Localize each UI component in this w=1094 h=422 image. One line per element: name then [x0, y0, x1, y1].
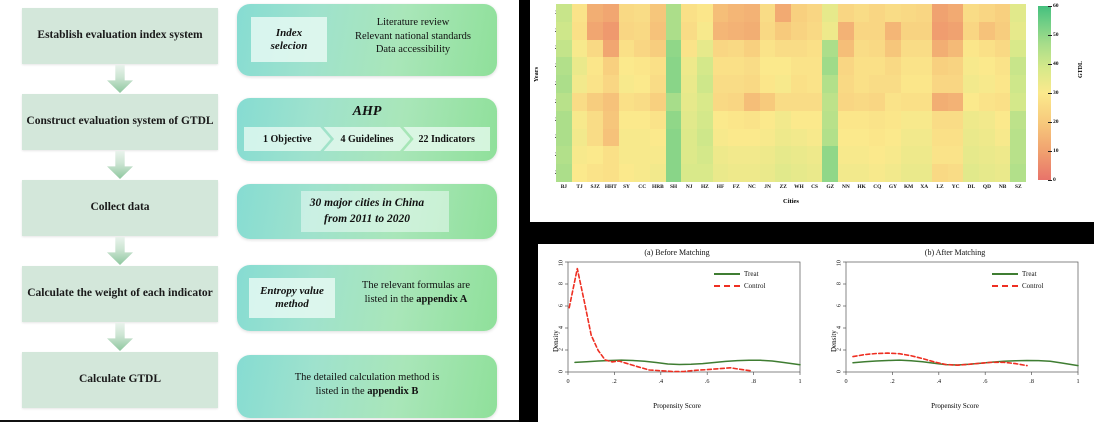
- heatmap-cell: [713, 93, 729, 111]
- heatmap-cell: [587, 57, 603, 75]
- heatmap-cell: [791, 22, 807, 40]
- heatmap-cell: [948, 129, 964, 147]
- legend-item-control: Control: [714, 282, 765, 290]
- heatmap-cell: [901, 146, 917, 164]
- heatmap-cell: [556, 57, 572, 75]
- heatmap-cell: [948, 146, 964, 164]
- heatmap-x-tick: NJ: [681, 184, 697, 196]
- heatmap-cell: [963, 40, 979, 58]
- heatmap-cell: [619, 164, 635, 182]
- heatmap-cell: [901, 40, 917, 58]
- detail-card-5-line1: The detailed calculation method is: [249, 371, 485, 385]
- heatmap-cell: [572, 146, 588, 164]
- ahp-chevron-1: 1 Objective: [244, 127, 331, 151]
- detail-card-3-body: 30 major cities in China from 2011 to 20…: [237, 196, 497, 227]
- heatmap-cell: [650, 146, 666, 164]
- heatmap-cell: [697, 164, 713, 182]
- heatmap-cell: [681, 75, 697, 93]
- legend-label: Treat: [1022, 270, 1037, 278]
- heatmap-cell: [666, 22, 682, 40]
- detail-card-cities: 30 major cities in China from 2011 to 20…: [237, 184, 497, 239]
- heatmap-cell: [713, 111, 729, 129]
- heatmap-cell: [885, 57, 901, 75]
- heatmap-cell: [869, 164, 885, 182]
- heatmap-cell: [979, 146, 995, 164]
- detail-card-index-selection: Index selecion Literature review Relevan…: [237, 4, 497, 76]
- heatmap-x-tick: SH: [666, 184, 682, 196]
- heatmap-cell: [869, 129, 885, 147]
- heatmap-cell: [854, 40, 870, 58]
- heatmap-cell: [650, 40, 666, 58]
- heatmap-cell: [822, 111, 838, 129]
- heatmap-cell: [979, 164, 995, 182]
- heatmap-cell: [760, 93, 776, 111]
- heatmap-cell: [901, 164, 917, 182]
- heatmap-x-tick: XA: [916, 184, 932, 196]
- heatmap-cell: [619, 75, 635, 93]
- heatmap-cell: [885, 129, 901, 147]
- density-x-tick: 1: [1076, 378, 1079, 385]
- heatmap-cell: [760, 164, 776, 182]
- heatmap-cell: [1010, 164, 1026, 182]
- detail-card-5-appendix: appendix B: [367, 386, 418, 397]
- heatmap-cell: [697, 93, 713, 111]
- density-y-tick: 0: [835, 370, 842, 373]
- heatmap-cell: [854, 4, 870, 22]
- heatmap-x-tick: WH: [791, 184, 807, 196]
- heatmap-cell: [822, 75, 838, 93]
- flow-step-1: Establish evaluation index system: [22, 8, 218, 64]
- heatmap-cell: [901, 129, 917, 147]
- heatmap-cell: [697, 129, 713, 147]
- density-x-tick: .4: [936, 378, 941, 385]
- detail-card-4-tag: Entropy value method: [249, 278, 335, 318]
- heatmap-cell: [916, 146, 932, 164]
- heatmap-cell: [885, 22, 901, 40]
- heatmap-cell: [572, 57, 588, 75]
- heatmap-cell: [995, 111, 1011, 129]
- heatmap-cell: [869, 4, 885, 22]
- density-x-tick: .4: [658, 378, 663, 385]
- heatmap-cell: [728, 129, 744, 147]
- heatmap-cell: [838, 146, 854, 164]
- heatmap-cell: [666, 4, 682, 22]
- heatmap-cell: [572, 111, 588, 129]
- heatmap-cell: [932, 4, 948, 22]
- heatmap-cell: [791, 75, 807, 93]
- heatmap-cell: [916, 93, 932, 111]
- heatmap-cell: [869, 22, 885, 40]
- heatmap-cell: [791, 111, 807, 129]
- heatmap-cell: [556, 146, 572, 164]
- flow-step-5: Calculate GTDL: [22, 352, 218, 408]
- flow-step-3: Collect data: [22, 180, 218, 236]
- heatmap-cell: [728, 40, 744, 58]
- heatmap-cell: [885, 111, 901, 129]
- heatmap-cell: [587, 40, 603, 58]
- heatmap-cell: [572, 40, 588, 58]
- heatmap-cell: [634, 22, 650, 40]
- heatmap-cell: [791, 57, 807, 75]
- density-y-tick: 2: [835, 348, 842, 351]
- heatmap-cell: [634, 93, 650, 111]
- heatmap-cell: [556, 22, 572, 40]
- heatmap-cell: [556, 164, 572, 182]
- heatmap-cell: [822, 93, 838, 111]
- heatmap-cell: [932, 22, 948, 40]
- heatmap-cell: [744, 93, 760, 111]
- detail-card-ahp: AHP 1 Objective 4 Guidelines 22 Indicato…: [237, 98, 497, 161]
- heatmap-cell: [995, 146, 1011, 164]
- heatmap-cell: [572, 75, 588, 93]
- detail-card-5-body: The detailed calculation method is liste…: [249, 371, 485, 398]
- heatmap-cell: [587, 22, 603, 40]
- heatmap-cell: [901, 75, 917, 93]
- plot-frame: [846, 262, 1078, 372]
- heatmap-cell: [916, 4, 932, 22]
- heatmap-cell: [760, 22, 776, 40]
- heatmap-cell: [650, 22, 666, 40]
- heatmap-cell: [634, 146, 650, 164]
- heatmap-x-tick: NN: [838, 184, 854, 196]
- heatmap-cell: [760, 146, 776, 164]
- heatmap-cell: [979, 40, 995, 58]
- heatmap-cell: [807, 57, 823, 75]
- density-y-tick: 6: [557, 304, 564, 307]
- heatmap-cell: [556, 111, 572, 129]
- heatmap-cell: [556, 4, 572, 22]
- heatmap-cell: [901, 111, 917, 129]
- heatmap-cell: [744, 164, 760, 182]
- heatmap-cell: [1010, 4, 1026, 22]
- heatmap-cell: [948, 40, 964, 58]
- heatmap-x-tick: NB: [995, 184, 1011, 196]
- density-x-tick: .6: [705, 378, 710, 385]
- heatmap-cell: [916, 22, 932, 40]
- heatmap-cell: [556, 40, 572, 58]
- detail-card-1-tag: Index selecion: [251, 17, 327, 62]
- heatmap-cell: [713, 22, 729, 40]
- heatmap-cell: [963, 22, 979, 40]
- heatmap-cell: [775, 40, 791, 58]
- legend-swatch: [992, 273, 1018, 275]
- heatmap-cell: [854, 129, 870, 147]
- heatmap-cell: [603, 164, 619, 182]
- heatmap-cell: [587, 129, 603, 147]
- density-x-tick: 0: [844, 378, 847, 385]
- heatmap-cell: [728, 22, 744, 40]
- heatmap-cell: [979, 57, 995, 75]
- heatmap-cell: [995, 93, 1011, 111]
- legend-swatch: [992, 285, 1018, 287]
- heatmap-cell: [1010, 146, 1026, 164]
- detail-card-4-line1: The relevant formulas are: [341, 279, 491, 293]
- flow-step-2: Construct evaluation system of GTDL: [22, 94, 218, 150]
- density-y-tick: 10: [835, 260, 842, 266]
- colorbar-tick: 60: [1053, 3, 1059, 9]
- heatmap-cell: [744, 129, 760, 147]
- legend-label: Treat: [744, 270, 759, 278]
- heatmap-cell: [963, 146, 979, 164]
- heatmap-cell: [650, 57, 666, 75]
- heatmap-cell: [963, 4, 979, 22]
- heatmap-x-tick: YC: [948, 184, 964, 196]
- heatmap-cell: [744, 75, 760, 93]
- heatmap-cell: [619, 129, 635, 147]
- heatmap-cell: [932, 40, 948, 58]
- heatmap-cell: [775, 129, 791, 147]
- heatmap-cell: [697, 75, 713, 93]
- heatmap-x-tick: CQ: [869, 184, 885, 196]
- heatmap-cell: [822, 57, 838, 75]
- heatmap-cell: [979, 129, 995, 147]
- heatmap-cell: [807, 75, 823, 93]
- heatmap-x-tick: SJZ: [587, 184, 603, 196]
- heatmap-cell: [869, 40, 885, 58]
- heatmap-cell: [979, 93, 995, 111]
- detail-card-1-body: Literature review Relevant national stan…: [335, 16, 491, 57]
- heatmap-cell: [916, 75, 932, 93]
- colorbar-tick: 20: [1053, 119, 1059, 125]
- heatmap-x-tick: GY: [885, 184, 901, 196]
- detail-card-4-line2: listed in the appendix A: [341, 293, 491, 307]
- heatmap-x-tick: HZ: [697, 184, 713, 196]
- heatmap-cell: [901, 57, 917, 75]
- density-y-tick: 4: [557, 326, 564, 329]
- heatmap-cell: [838, 22, 854, 40]
- heatmap-cell: [650, 93, 666, 111]
- heatmap-cell: [838, 40, 854, 58]
- heatmap-cell: [603, 57, 619, 75]
- flow-step-2-label: Construct evaluation system of GTDL: [26, 115, 213, 129]
- heatmap-cell: [634, 4, 650, 22]
- heatmap-x-tick: CC: [634, 184, 650, 196]
- heatmap-cell: [572, 93, 588, 111]
- heatmap-cell: [744, 4, 760, 22]
- heatmap-cell: [728, 4, 744, 22]
- heatmap-cell: [948, 22, 964, 40]
- heatmap-cell: [760, 40, 776, 58]
- detail-card-3-line1: 30 major cities in China: [237, 196, 497, 212]
- legend-item-treat: Treat: [992, 270, 1037, 278]
- heatmap-cell: [775, 22, 791, 40]
- density-y-tick: 10: [557, 260, 564, 266]
- heatmap-panel: Years 2011201220132014201520162017201820…: [530, 0, 1094, 222]
- heatmap-cell: [603, 75, 619, 93]
- heatmap-cell: [681, 164, 697, 182]
- detail-card-4-line2-pre: listed in the: [365, 294, 417, 305]
- heatmap-cell: [822, 40, 838, 58]
- heatmap-cell: [854, 93, 870, 111]
- density-x-tick: 0: [566, 378, 569, 385]
- heatmap-x-ticks: BJTJSJZHHTSYCCHRBSHNJHZHFFZNCJNZZWHCSGZN…: [556, 184, 1026, 196]
- heatmap-cell: [603, 129, 619, 147]
- heatmap-cell: [807, 146, 823, 164]
- legend-item-control: Control: [992, 282, 1043, 290]
- heatmap-cell: [885, 164, 901, 182]
- heatmap-cell: [650, 75, 666, 93]
- heatmap-cell: [713, 57, 729, 75]
- heatmap-cell: [619, 146, 635, 164]
- colorbar-tick: 10: [1053, 148, 1059, 154]
- heatmap-cell: [713, 164, 729, 182]
- heatmap-cell: [869, 75, 885, 93]
- heatmap-cell: [916, 40, 932, 58]
- heatmap-cell: [650, 111, 666, 129]
- heatmap-cell: [728, 164, 744, 182]
- heatmap-cell: [697, 146, 713, 164]
- heatmap-cell: [901, 22, 917, 40]
- heatmap-cell: [838, 111, 854, 129]
- density-y-tick: 6: [835, 304, 842, 307]
- detail-card-4-tag-line2: method: [275, 298, 309, 311]
- heatmap-cell: [681, 22, 697, 40]
- detail-card-4-tag-line1: Entropy value: [260, 285, 324, 298]
- heatmap-cell: [885, 40, 901, 58]
- heatmap-cell: [948, 75, 964, 93]
- density-x-tick: .2: [890, 378, 895, 385]
- flowchart-step-column: Establish evaluation index system Constr…: [22, 8, 218, 408]
- heatmap-cell: [963, 57, 979, 75]
- down-arrow-icon: [107, 323, 133, 351]
- heatmap-cell: [603, 22, 619, 40]
- flow-step-5-label: Calculate GTDL: [79, 373, 161, 387]
- heatmap-cell: [681, 129, 697, 147]
- heatmap-cell: [838, 164, 854, 182]
- heatmap-x-tick: GZ: [822, 184, 838, 196]
- heatmap-cell: [681, 111, 697, 129]
- detail-card-1-line2: Relevant national standards: [335, 30, 491, 44]
- density-plot-svg: 02468100.2.4.6.81: [816, 244, 1094, 422]
- heatmap-cell: [1010, 40, 1026, 58]
- heatmap-cell: [885, 75, 901, 93]
- legend-swatch: [714, 285, 740, 287]
- heatmap-cell: [916, 164, 932, 182]
- heatmap-cell: [901, 93, 917, 111]
- heatmap-cell: [697, 22, 713, 40]
- heatmap-x-tick: FZ: [728, 184, 744, 196]
- heatmap-cell: [838, 75, 854, 93]
- density-y-tick: 0: [557, 370, 564, 373]
- heatmap-y-axis-label: Years: [534, 67, 540, 82]
- heatmap-cell: [619, 22, 635, 40]
- heatmap-cell: [760, 57, 776, 75]
- heatmap-cell: [556, 75, 572, 93]
- density-chart-after-matching: (b) After Matching Density Propensity Sc…: [816, 244, 1094, 422]
- heatmap-cell: [1010, 129, 1026, 147]
- heatmap-cell: [666, 40, 682, 58]
- heatmap-cell: [822, 146, 838, 164]
- heatmap-cell: [728, 111, 744, 129]
- flow-step-1-label: Establish evaluation index system: [37, 29, 202, 43]
- down-arrow-icon: [107, 65, 133, 93]
- heatmap-cell: [650, 164, 666, 182]
- heatmap-cell: [916, 111, 932, 129]
- heatmap-cell: [603, 111, 619, 129]
- heatmap-cell: [666, 111, 682, 129]
- heatmap-cell: [854, 111, 870, 129]
- heatmap-cell: [838, 57, 854, 75]
- heatmap-cell: [869, 57, 885, 75]
- heatmap-cell: [885, 146, 901, 164]
- heatmap-cell: [838, 93, 854, 111]
- heatmap-cell: [760, 129, 776, 147]
- heatmap-cell: [775, 57, 791, 75]
- heatmap-cell: [697, 4, 713, 22]
- heatmap-cell: [603, 93, 619, 111]
- heatmap-cell: [916, 57, 932, 75]
- heatmap-cell: [932, 57, 948, 75]
- legend-swatch: [714, 273, 740, 275]
- heatmap-cell: [760, 111, 776, 129]
- colorbar-tick: 50: [1053, 32, 1059, 38]
- flow-arrow-1-wrap: [22, 64, 218, 94]
- heatmap-cell: [587, 111, 603, 129]
- ahp-chevron-row: 1 Objective 4 Guidelines 22 Indicators: [244, 127, 490, 151]
- flow-step-3-label: Collect data: [90, 201, 149, 215]
- heatmap-cell: [713, 146, 729, 164]
- heatmap-cell: [713, 75, 729, 93]
- heatmap-cell: [822, 4, 838, 22]
- density-plot-svg: 02468100.2.4.6.81: [538, 244, 816, 422]
- heatmap-cell: [556, 93, 572, 111]
- heatmap-cell: [807, 40, 823, 58]
- heatmap-cell: [728, 57, 744, 75]
- density-x-tick: 1: [798, 378, 801, 385]
- detail-card-1-line1: Literature review: [335, 16, 491, 30]
- heatmap-cell: [1010, 22, 1026, 40]
- down-arrow-icon: [107, 237, 133, 265]
- density-y-tick: 2: [557, 348, 564, 351]
- colorbar-tick: 40: [1053, 61, 1059, 67]
- heatmap-cell: [807, 22, 823, 40]
- heatmap-cell: [587, 164, 603, 182]
- heatmap-cell: [948, 164, 964, 182]
- heatmap-cell: [979, 4, 995, 22]
- detail-card-4-body: The relevant formulas are listed in the …: [341, 279, 491, 306]
- heatmap-cell: [744, 40, 760, 58]
- heatmap-cell: [556, 129, 572, 147]
- heatmap-cell: [666, 75, 682, 93]
- heatmap-cell: [948, 57, 964, 75]
- heatmap-cell: [963, 111, 979, 129]
- heatmap-cell: [619, 40, 635, 58]
- heatmap-cell: [901, 4, 917, 22]
- heatmap-cell: [775, 4, 791, 22]
- heatmap-cell: [728, 146, 744, 164]
- heatmap-cell: [869, 93, 885, 111]
- heatmap-cell: [948, 4, 964, 22]
- detail-card-1-tag-line2: selecion: [271, 40, 308, 53]
- heatmap-cell: [681, 57, 697, 75]
- heatmap-cell: [713, 40, 729, 58]
- detail-card-5-line2-pre: listed in the: [316, 386, 368, 397]
- heatmap-cell: [728, 93, 744, 111]
- heatmap-cell: [1010, 75, 1026, 93]
- heatmap-x-tick: JN: [760, 184, 776, 196]
- heatmap-cell: [932, 75, 948, 93]
- heatmap-cell: [854, 75, 870, 93]
- heatmap-cell: [619, 111, 635, 129]
- density-x-tick: .2: [612, 378, 617, 385]
- heatmap-x-tick: KM: [901, 184, 917, 196]
- heatmap-cell: [995, 40, 1011, 58]
- heatmap-cell: [791, 164, 807, 182]
- heatmap-cell: [666, 146, 682, 164]
- heatmap-cell: [760, 75, 776, 93]
- heatmap-cell: [775, 75, 791, 93]
- heatmap-cell: [916, 129, 932, 147]
